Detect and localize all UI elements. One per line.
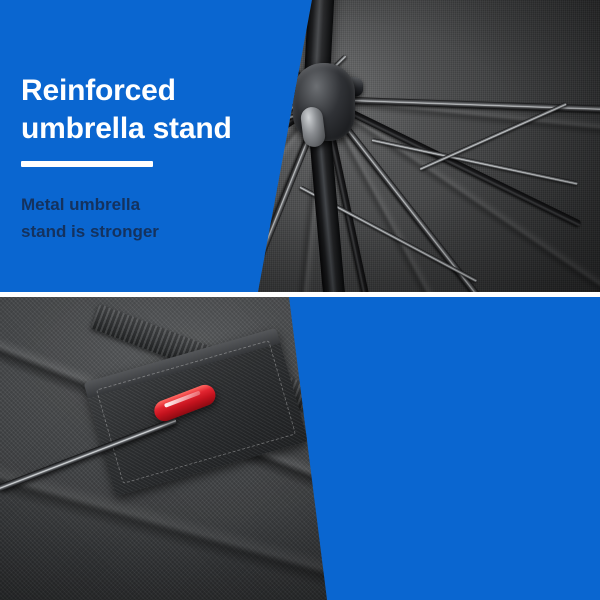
headline-underline-rule (21, 161, 153, 167)
feature-panel-reinforced-umbrella-stand: Reinforced umbrella stand Metal umbrella… (0, 0, 600, 292)
headline-reinforced-umbrella-stand: Reinforced umbrella stand (21, 72, 232, 149)
wrap-photo-vignette (0, 297, 600, 600)
feature-panel-wrap-design: Wrap design New and unique design Wrap d… (0, 297, 600, 600)
wrap-fabric-photo (0, 297, 600, 600)
product-feature-poster: Reinforced umbrella stand Metal umbrella… (0, 0, 600, 600)
text-block-reinforced-umbrella-stand: Reinforced umbrella stand Metal umbrella… (21, 72, 232, 246)
subtext-reinforced-umbrella-stand: Metal umbrella stand is stronger (21, 191, 232, 246)
